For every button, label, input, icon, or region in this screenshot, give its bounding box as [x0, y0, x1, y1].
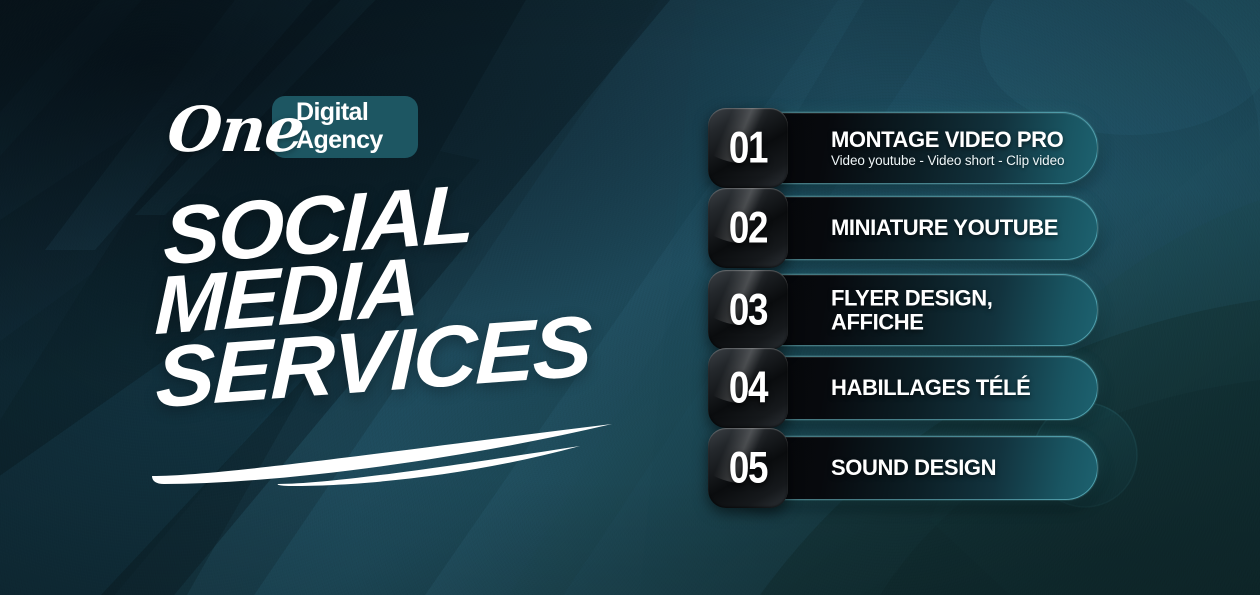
service-number-badge: 04: [708, 348, 788, 428]
service-number: 05: [711, 428, 785, 508]
service-number: 03: [711, 270, 785, 350]
page-title: SOCIAL MEDIA SERVICES: [143, 168, 657, 414]
service-number: 01: [711, 108, 785, 188]
service-number-badge: 05: [708, 428, 788, 508]
service-text: MINIATURE YOUTUBE: [831, 216, 1079, 240]
service-text: SOUND DESIGN: [831, 456, 1079, 480]
service-number-badge: 03: [708, 270, 788, 350]
service-title: SOUND DESIGN: [831, 456, 1079, 480]
service-text: MONTAGE VIDEO PRO Video youtube - Video …: [831, 128, 1079, 168]
logo-wordmark: Digital Agency: [296, 98, 383, 154]
service-number: 02: [711, 188, 785, 268]
service-number-badge: 02: [708, 188, 788, 268]
service-title: MINIATURE YOUTUBE: [831, 216, 1079, 240]
service-title: HABILLAGES TÉLÉ: [831, 376, 1079, 400]
service-title-line-2: AFFICHE: [831, 310, 1079, 334]
left-content: One Digital Agency SOCIAL MEDIA SERVICES: [0, 0, 660, 595]
services-list: MONTAGE VIDEO PRO Video youtube - Video …: [708, 0, 1108, 595]
swoosh-underline: [150, 414, 620, 486]
service-text: FLYER DESIGN, AFFICHE: [831, 286, 1079, 334]
service-subtitle: Video youtube - Video short - Clip video: [831, 153, 1079, 168]
logo-line-agency: Agency: [296, 126, 383, 154]
service-title: MONTAGE VIDEO PRO: [831, 128, 1079, 152]
service-number: 04: [711, 348, 785, 428]
logo-line-digital: Digital: [296, 98, 383, 126]
logo-script-word: One: [164, 92, 308, 168]
brand-logo: One Digital Agency: [168, 92, 418, 168]
service-number-badge: 01: [708, 108, 788, 188]
service-text: HABILLAGES TÉLÉ: [831, 376, 1079, 400]
service-title-line-1: FLYER DESIGN,: [831, 286, 1079, 310]
